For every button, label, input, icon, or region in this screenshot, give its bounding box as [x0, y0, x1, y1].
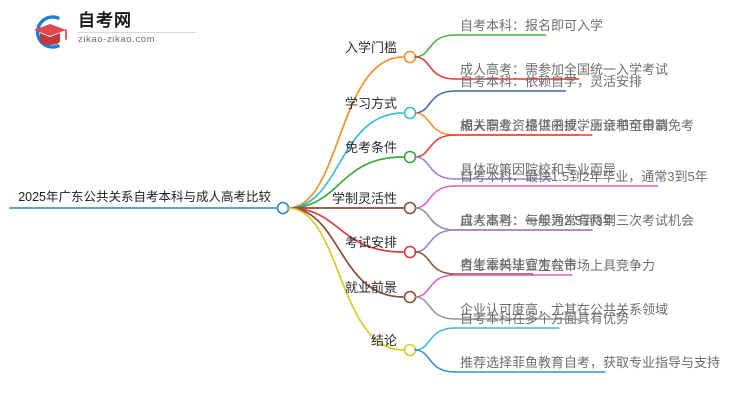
branch-label-5: 考试安排 — [345, 235, 397, 250]
leaf-label-1-1: 自考本科：报名即可入学 — [460, 18, 603, 33]
leaf-label-7-1: 自考本科在多个方面具有优势 — [460, 311, 629, 326]
leaf-label-6-1: 自考本科毕业生在市场上具竞争力 — [460, 258, 655, 273]
root-node-label: 2025年广东公共关系自考本科与成人高考比较 — [18, 190, 271, 205]
leaf-label-5-1: 自考本科：每年通常有两到三次考试机会 — [460, 213, 694, 228]
branch-label-7: 结论 — [371, 333, 397, 348]
branch-label-6: 就业前景 — [345, 280, 397, 295]
leaf-label-3-1: 相关职业资格证书或学历证书可申请免考 — [460, 118, 694, 133]
leaf-label-7-2: 推荐选择菲鱼教育自考，获取专业指导与支持 — [460, 355, 720, 370]
branch-label-1: 入学门槛 — [345, 40, 397, 55]
branch-label-3: 免考条件 — [345, 140, 397, 155]
branch-label-2: 学习方式 — [345, 96, 397, 111]
branch-label-4: 学制灵活性 — [332, 191, 397, 206]
leaf-label-2-1: 自考本科：依赖自学，灵活安排 — [460, 74, 642, 89]
leaf-label-4-1: 自考本科：最快1.5到2年毕业，通常3到5年 — [460, 169, 708, 184]
